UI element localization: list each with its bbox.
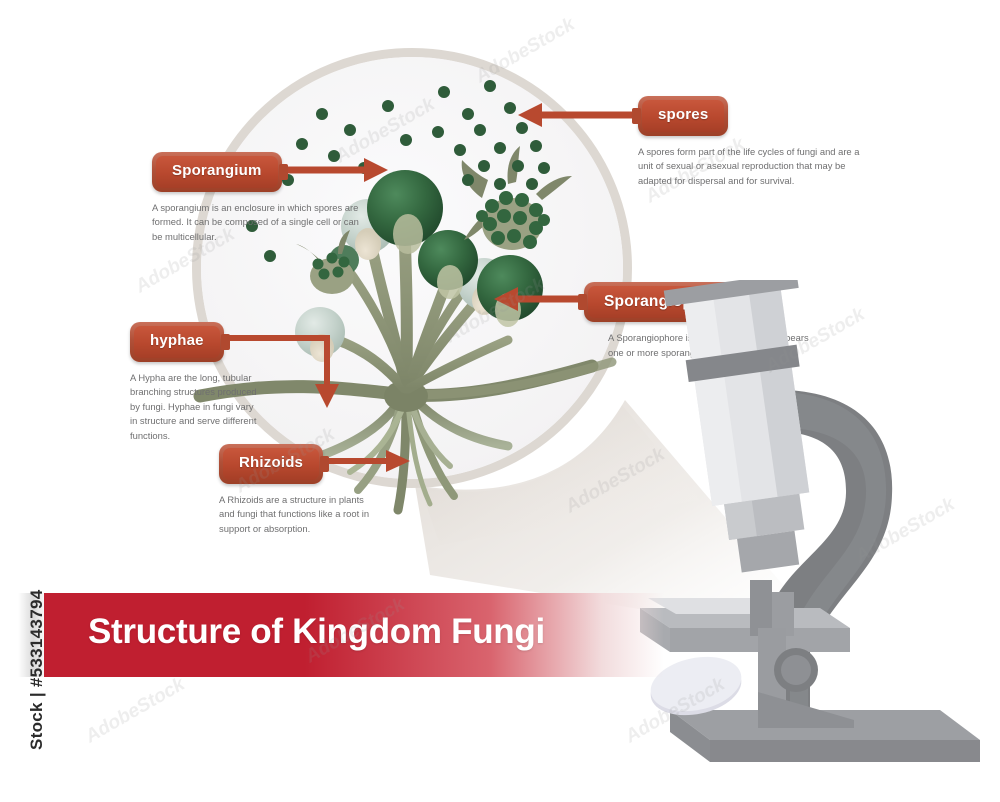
label-spores: spores A spores form part of the life cy…: [638, 96, 873, 188]
sporangium-chip[interactable]: Sporangium: [152, 152, 282, 192]
chip-connector-nub: [221, 334, 230, 350]
hyphae-chip[interactable]: hyphae: [130, 322, 224, 362]
rhizoids-chip[interactable]: Rhizoids: [219, 444, 323, 484]
sporangium-chip-label: Sporangium: [156, 156, 278, 188]
stock-id-number: #533143794: [27, 590, 46, 688]
chip-connector-nub: [320, 456, 329, 472]
rhizoids-description: A Rhizoids are a structure in plants and…: [219, 493, 379, 537]
chip-connector-nub: [578, 294, 587, 310]
sporangium-description: A sporangium is an enclosure in which sp…: [152, 201, 367, 245]
chip-connector-nub: [632, 108, 641, 124]
label-rhizoids: Rhizoids A Rhizoids are a structure in p…: [219, 444, 379, 536]
magnifier-lens-glass: [201, 57, 623, 479]
stock-id-watermark: Stock | #533143794: [27, 550, 47, 750]
chip-connector-nub: [279, 164, 288, 180]
page-title: Structure of Kingdom Fungi: [88, 612, 545, 652]
spores-chip-label: spores: [642, 100, 724, 132]
spores-chip[interactable]: spores: [638, 96, 728, 136]
hyphae-description: A Hypha are the long, tubular branching …: [130, 371, 258, 444]
spores-description: A spores form part of the life cycles of…: [638, 145, 873, 189]
rhizoids-chip-label: Rhizoids: [223, 448, 319, 480]
label-hyphae: hyphae A Hypha are the long, tubular bra…: [130, 322, 258, 443]
stock-id-prefix: Stock |: [27, 692, 46, 750]
label-sporangium: Sporangium A sporangium is an enclosure …: [152, 152, 367, 244]
hyphae-chip-label: hyphae: [134, 326, 220, 358]
infographic-canvas: Sporangium A sporangium is an enclosure …: [0, 0, 1000, 802]
